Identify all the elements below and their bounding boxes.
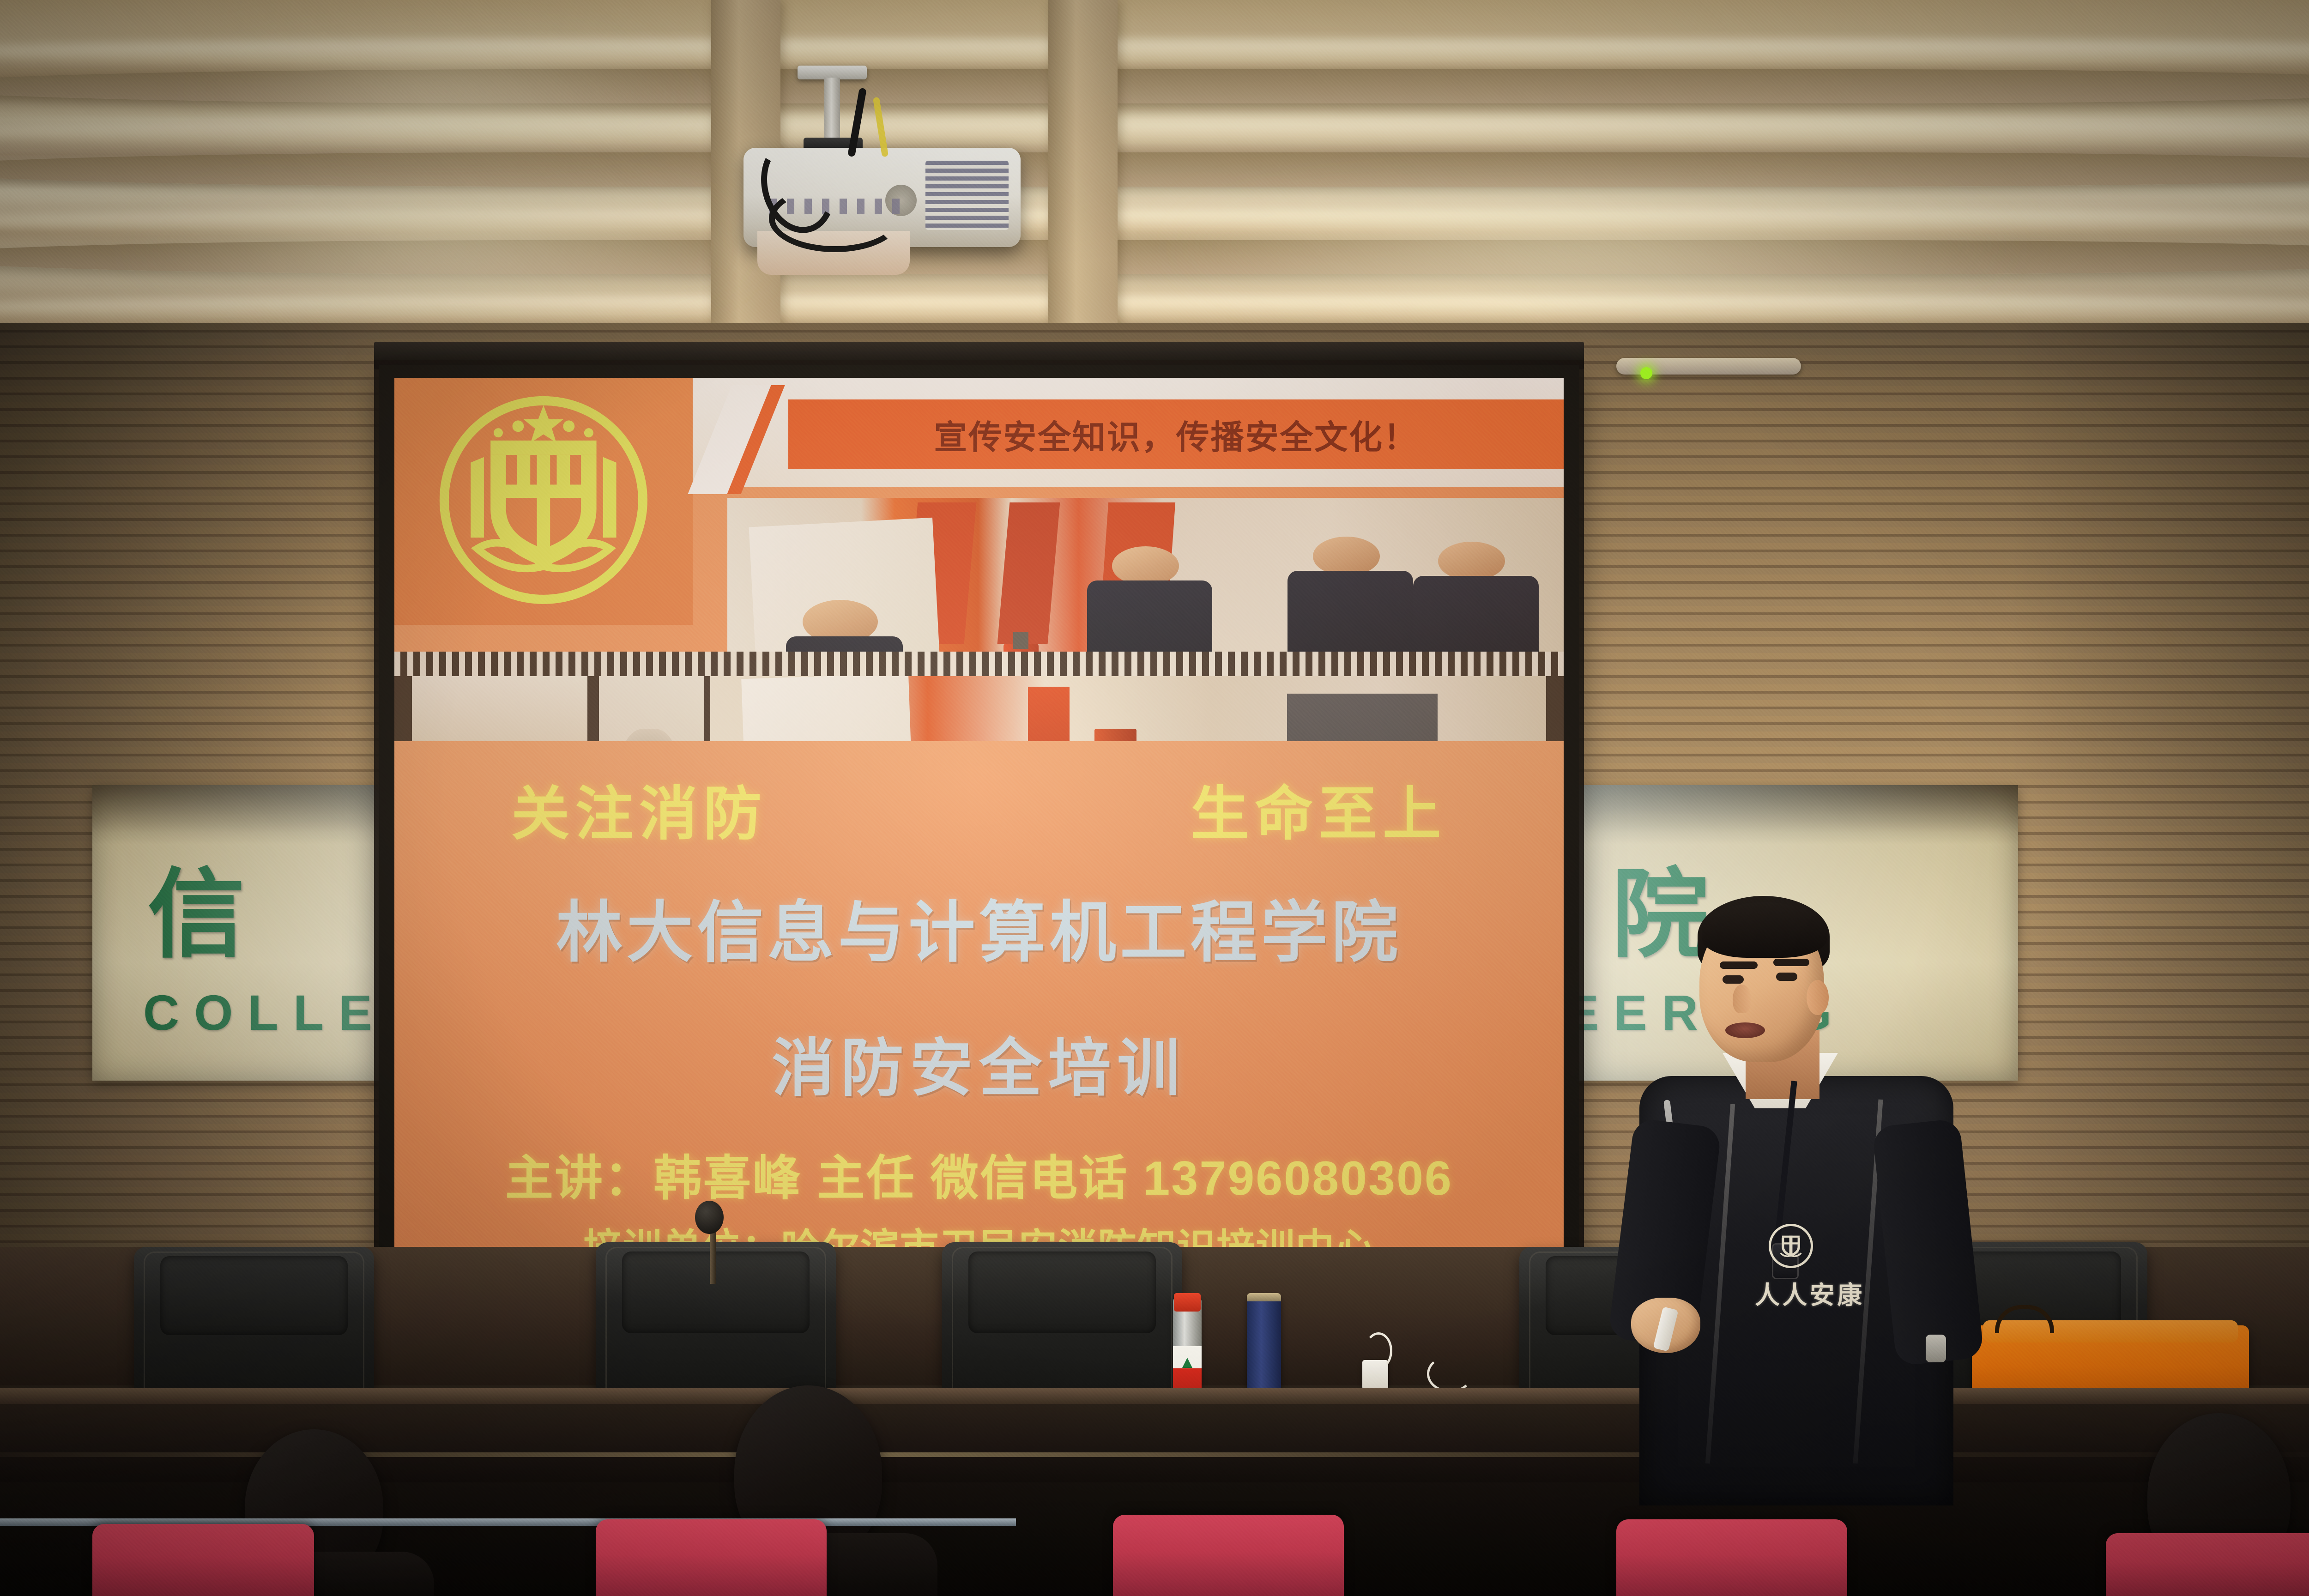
audience-seat (596, 1519, 827, 1596)
sensor-led-icon (1640, 367, 1652, 379)
wall-sign-left-chinese: 信 (148, 836, 266, 976)
slide-speaker-line: 主讲：韩喜峰 主任 微信电话 13796080306 (505, 1139, 1453, 1209)
safety-emblem-icon (433, 390, 654, 613)
presenter: 人人安康 (1607, 905, 2023, 1505)
jacket-emblem-icon (1769, 1224, 1813, 1268)
slide-emblem-panel (394, 378, 693, 625)
slide-topic: 消防安全培训 (772, 1017, 1186, 1108)
projection-screen: 宣传安全知识，传播安全文化！ (379, 365, 1579, 1288)
ceiling (0, 0, 2309, 351)
slide-slogan-right: 生命至上 (1191, 767, 1446, 851)
audience-seat (1113, 1515, 1344, 1596)
presenter-watch (1926, 1335, 1946, 1362)
stage-chair (134, 1247, 374, 1399)
slide-content: 宣传安全知识，传播安全文化！ (394, 378, 1564, 1276)
slide-slogan-row: 关注消防 生命至上 (511, 767, 1447, 851)
audience-seat (1616, 1519, 1847, 1596)
slide-banner-text: 宣传安全知识，传播安全文化！ (934, 410, 1418, 459)
stage-chair (942, 1242, 1182, 1399)
slide-slogan-left: 关注消防 (511, 767, 767, 851)
audience-seat (92, 1524, 314, 1596)
audience-seat (2106, 1533, 2309, 1596)
slide-organization: 林大信息与计算机工程学院 (556, 879, 1402, 975)
auditorium-scene: 信 COLLEG 院 EERING (0, 0, 2309, 1596)
slide-text-block: 关注消防 生命至上 林大信息与计算机工程学院 消防安全培训 主讲：韩喜峰 主任 … (394, 741, 1564, 1276)
jacket-logo-text: 人人安康 (1755, 1275, 1865, 1311)
